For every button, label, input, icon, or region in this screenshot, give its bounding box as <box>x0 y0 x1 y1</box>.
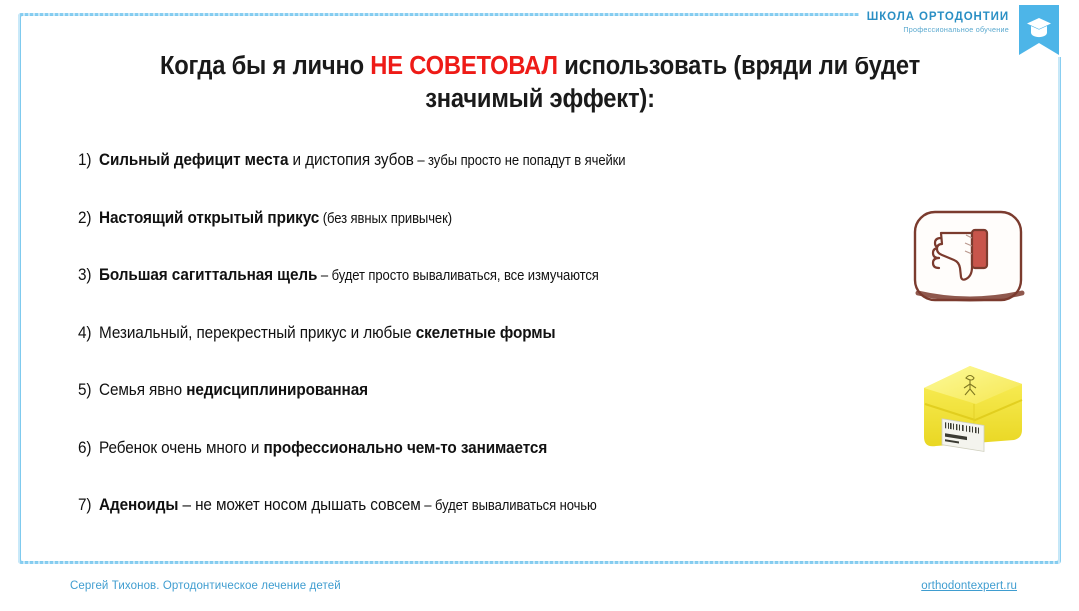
list-item-text: Семья явно недисциплинированная <box>99 380 368 401</box>
list-item-dash: – <box>414 153 428 169</box>
list-item: 4) Мезиальный, перекрестный прикус и люб… <box>78 323 898 381</box>
yellow-lunchbox-photo <box>912 358 1032 456</box>
list-item: 1) Сильный дефицит места и дистопия зубо… <box>78 150 898 208</box>
list-item-dash: – <box>317 268 331 284</box>
list-item-text: Сильный дефицит места и дистопия зубов –… <box>99 150 626 171</box>
brand-title: ШКОЛА ОРТОДОНТИИ <box>867 11 1009 23</box>
list-item-number: 6) <box>78 438 91 458</box>
list-item-number: 1) <box>78 150 91 170</box>
list-item: 7) Аденоиды – не может носом дышать совс… <box>78 495 898 553</box>
brand-logo: ШКОЛА ОРТОДОНТИИ Профессиональное обучен… <box>859 5 1061 57</box>
list-item-number: 7) <box>78 495 91 515</box>
list-item: 5) Семья явно недисциплинированная <box>78 380 898 438</box>
list-item-strong: недисциплинированная <box>186 380 368 399</box>
list-item-medium: и дистопия зубов <box>288 150 413 169</box>
list-item-number: 4) <box>78 323 91 343</box>
slide-title: Когда бы я лично НЕ СОВЕТОВАЛ использова… <box>140 50 940 116</box>
slide-title-highlight: НЕ СОВЕТОВАЛ <box>370 52 558 80</box>
list-item-regular: Семья явно <box>99 380 186 399</box>
list-item-text: Мезиальный, перекрестный прикус и любые … <box>99 323 555 344</box>
list-item-text: Настоящий открытый прикус (без явных при… <box>99 208 452 229</box>
list-item-note: будет вываливаться ночью <box>435 498 597 514</box>
brand-logo-text: ШКОЛА ОРТОДОНТИИ Профессиональное обучен… <box>867 5 1017 34</box>
list-item-note: (без явных привычек) <box>322 211 451 227</box>
footer-website-link[interactable]: orthodontexpert.ru <box>921 580 1017 592</box>
brand-subtitle: Профессиональное обучение <box>867 25 1009 34</box>
slide-canvas: ШКОЛА ОРТОДОНТИИ Профессиональное обучен… <box>0 0 1079 611</box>
footer-author: Сергей Тихонов. Ортодонтическое лечение … <box>70 580 341 592</box>
list-item-strong: скелетные формы <box>415 323 555 342</box>
list-item-strong: Сильный дефицит места <box>99 150 288 169</box>
slide-title-part1: Когда бы я лично <box>160 52 370 80</box>
recommendation-list: 1) Сильный дефицит места и дистопия зубо… <box>78 150 898 553</box>
list-item-strong: Аденоиды <box>99 495 178 514</box>
list-item-medium: – не может носом дышать совсем <box>178 495 420 514</box>
graduation-cap-banner-icon <box>1017 5 1061 57</box>
list-item-number: 3) <box>78 265 91 285</box>
list-item: 2) Настоящий открытый прикус (без явных … <box>78 208 898 266</box>
list-item-note: зубы просто не попадут в ячейки <box>428 153 625 169</box>
list-item-strong: Большая сагиттальная щель <box>99 265 317 284</box>
list-item-note: будет просто вываливаться, все измучаютс… <box>331 268 598 284</box>
list-item-regular: Ребенок очень много и <box>99 438 264 457</box>
list-item-number: 2) <box>78 208 91 228</box>
list-item-text: Большая сагиттальная щель – будет просто… <box>99 265 599 286</box>
list-item-dash: – <box>420 498 434 514</box>
list-item-text: Ребенок очень много и профессионально че… <box>99 438 547 459</box>
list-item: 6) Ребенок очень много и профессионально… <box>78 438 898 496</box>
list-item-strong: Настоящий открытый прикус <box>99 208 319 227</box>
list-item-strong: профессионально чем-то занимается <box>263 438 547 457</box>
list-item-text: Аденоиды – не может носом дышать совсем … <box>99 495 597 516</box>
list-item: 3) Большая сагиттальная щель – будет про… <box>78 265 898 323</box>
list-item-number: 5) <box>78 380 91 400</box>
list-item-regular: Мезиальный, перекрестный прикус и любые <box>99 323 416 342</box>
thumbs-down-illustration <box>908 205 1032 310</box>
